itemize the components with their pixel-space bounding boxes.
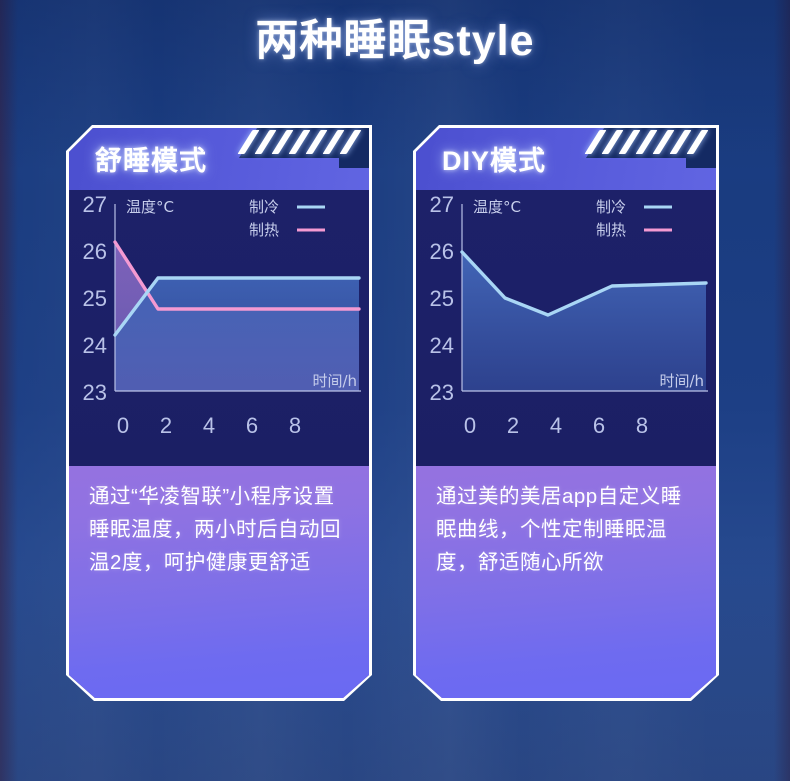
chart-area-diy-mode: 27 26 25 24 23 0 2 4 6 8 温度°C 时间/h 制冷 制热 <box>416 190 716 466</box>
y-axis-title: 温度°C <box>126 198 174 216</box>
y-tick-label: 23 <box>83 380 107 405</box>
legend-label-heat: 制热 <box>596 221 626 239</box>
x-tick-label: 0 <box>117 413 129 438</box>
card-caption-sleep-mode: 通过“华凌智联”小程序设置睡眠温度，两小时后自动回温2度，呵护健康更舒适 <box>69 466 369 698</box>
card-body: DIY模式 27 26 25 24 <box>416 128 716 698</box>
page-title: 两种睡眠style <box>0 6 790 68</box>
decorative-stripes-icon <box>245 130 363 154</box>
y-tick-label: 24 <box>83 333 107 358</box>
x-tick-label: 2 <box>160 413 172 438</box>
card-body: 舒睡模式 <box>69 128 369 698</box>
card-header-title: DIY模式 <box>442 139 546 178</box>
legend-label-cool: 制冷 <box>596 198 626 216</box>
decorative-stripes-icon <box>592 130 710 154</box>
x-tick-label: 4 <box>550 413 562 438</box>
legend-label-heat: 制热 <box>249 221 279 239</box>
x-tick-label: 6 <box>593 413 605 438</box>
card-diy-mode: DIY模式 27 26 25 24 <box>413 125 719 701</box>
card-header-title: 舒睡模式 <box>95 139 207 178</box>
card-caption-diy-mode: 通过美的美居app自定义睡眠曲线，个性定制睡眠温度，舒适随心所欲 <box>416 466 716 698</box>
x-tick-label: 2 <box>507 413 519 438</box>
x-tick-label: 0 <box>464 413 476 438</box>
caption-text: 通过美的美居app自定义睡眠曲线，个性定制睡眠温度，舒适随心所欲 <box>436 480 696 579</box>
y-tick-label: 25 <box>430 286 454 311</box>
y-tick-label: 26 <box>430 239 454 264</box>
y-tick-label: 27 <box>430 192 454 217</box>
caption-text: 通过“华凌智联”小程序设置睡眠温度，两小时后自动回温2度，呵护健康更舒适 <box>89 480 349 579</box>
cool-area-fill <box>462 252 706 391</box>
y-tick-label: 24 <box>430 333 454 358</box>
x-tick-label: 8 <box>636 413 648 438</box>
y-tick-label: 26 <box>83 239 107 264</box>
x-axis-title: 时间/h <box>312 372 357 390</box>
x-tick-label: 4 <box>203 413 215 438</box>
line-chart-sleep-mode: 27 26 25 24 23 0 2 4 6 8 温度°C 时间/h 制冷 制热 <box>69 190 369 466</box>
y-axis-title: 温度°C <box>473 198 521 216</box>
y-tick-label: 23 <box>430 380 454 405</box>
chart-area-sleep-mode: 27 26 25 24 23 0 2 4 6 8 温度°C 时间/h 制冷 制热 <box>69 190 369 466</box>
y-tick-label: 27 <box>83 192 107 217</box>
legend-label-cool: 制冷 <box>249 198 279 216</box>
x-tick-label: 8 <box>289 413 301 438</box>
line-chart-diy-mode: 27 26 25 24 23 0 2 4 6 8 温度°C 时间/h 制冷 制热 <box>416 190 716 466</box>
x-axis-title: 时间/h <box>659 372 704 390</box>
y-tick-label: 25 <box>83 286 107 311</box>
x-tick-label: 6 <box>246 413 258 438</box>
card-sleep-mode: 舒睡模式 <box>66 125 372 701</box>
